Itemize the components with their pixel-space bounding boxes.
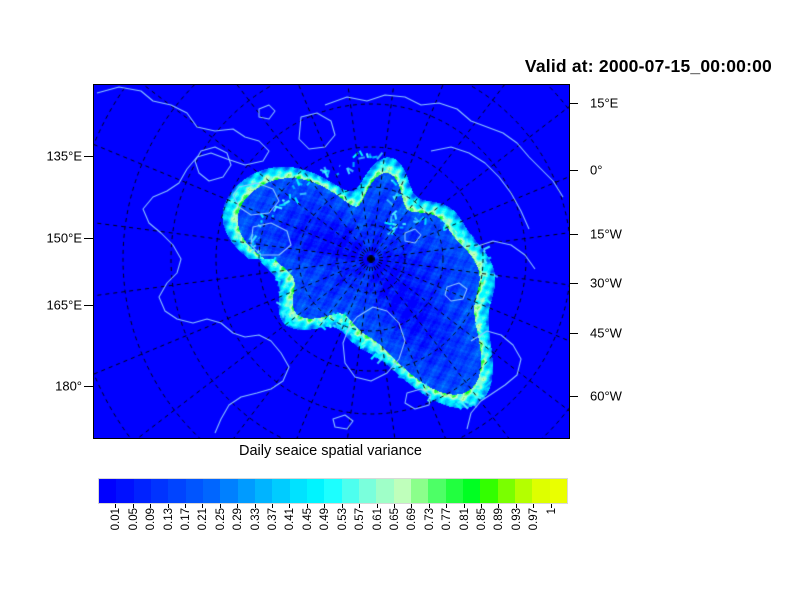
colorbar-segment: [255, 479, 272, 503]
left-axis-tick-label: 150°E: [20, 231, 82, 244]
colorbar-segment: [411, 479, 428, 503]
colorbar-tick-label: 0.29: [233, 508, 245, 530]
left-axis-tick-label: 135°E: [20, 150, 82, 163]
right-axis-tick-label: 15°W: [590, 228, 622, 241]
colorbar-segment: [463, 479, 480, 503]
colorbar-tick-label: 0.37: [268, 508, 280, 530]
left-axis-tick: [84, 238, 93, 239]
right-axis-tick-label: 45°W: [590, 326, 622, 339]
colorbar-tick-label: 0.53: [338, 508, 350, 530]
right-axis-tick-label: 60°W: [590, 390, 622, 403]
colorbar-segment: [134, 479, 151, 503]
colorbar-tick-label: 0.73: [425, 508, 437, 530]
colorbar-tick-label: 0.21: [198, 508, 210, 530]
colorbar-tick-label: 0.05: [129, 508, 141, 530]
colorbar-gradient: [98, 478, 568, 504]
colorbar-segment: [116, 479, 133, 503]
colorbar-tick-label: 0.49: [320, 508, 332, 530]
colorbar-segment: [99, 479, 116, 503]
colorbar-tick-label: 0.97: [529, 508, 541, 530]
right-axis-tick: [569, 103, 578, 104]
colorbar-segment: [532, 479, 549, 503]
colorbar-tick-label: 0.81: [460, 508, 472, 530]
colorbar-tick-label: 1: [547, 508, 559, 514]
page-title: Valid at: 2000-07-15_00:00:00: [0, 56, 772, 77]
colorbar-tick-label: 0.33: [251, 508, 263, 530]
colorbar-tick-label: 0.61: [373, 508, 385, 530]
right-axis-tick: [569, 283, 578, 284]
colorbar-segment: [238, 479, 255, 503]
colorbar-tick-label: 0.13: [164, 508, 176, 530]
figure-canvas: Valid at: 2000-07-15_00:00:00 135°E150°E…: [0, 0, 792, 612]
colorbar-tick-label: 0.01: [111, 508, 123, 530]
colorbar-tick-label: 0.77: [442, 508, 454, 530]
colorbar-segment: [203, 479, 220, 503]
colorbar-tick-label: 0.65: [390, 508, 402, 530]
colorbar-segment: [272, 479, 289, 503]
colorbar-tick-label: 0.85: [477, 508, 489, 530]
right-axis-tick: [569, 234, 578, 235]
colorbar-tick-label: 0.09: [146, 508, 158, 530]
right-axis-tick: [569, 333, 578, 334]
right-axis-tick: [569, 396, 578, 397]
colorbar[interactable]: [98, 478, 568, 504]
map-panel[interactable]: [93, 84, 570, 439]
colorbar-tick-label: 0.89: [494, 508, 506, 530]
colorbar-segment: [290, 479, 307, 503]
colorbar-segment: [168, 479, 185, 503]
right-axis-tick-label: 30°W: [590, 277, 622, 290]
colorbar-labels: 0.010.050.090.130.170.210.250.290.330.37…: [0, 508, 792, 568]
colorbar-segment: [480, 479, 497, 503]
colorbar-tick-label: 0.69: [407, 508, 419, 530]
colorbar-segment: [220, 479, 237, 503]
colorbar-tick-label: 0.93: [512, 508, 524, 530]
colorbar-tick-label: 0.17: [181, 508, 193, 530]
colorbar-segment: [515, 479, 532, 503]
left-axis-tick-label: 165°E: [20, 298, 82, 311]
right-axis-tick-label: 0°: [590, 164, 602, 177]
colorbar-segment: [307, 479, 324, 503]
colorbar-segment: [376, 479, 393, 503]
colorbar-tick-label: 0.41: [285, 508, 297, 530]
colorbar-tick-label: 0.25: [216, 508, 228, 530]
left-axis-tick: [84, 156, 93, 157]
left-axis-tick: [84, 386, 93, 387]
colorbar-segment: [498, 479, 515, 503]
colorbar-segment: [446, 479, 463, 503]
left-axis-tick-label: 180°: [20, 379, 82, 392]
colorbar-segment: [342, 479, 359, 503]
left-axis-tick: [84, 305, 93, 306]
colorbar-segment: [151, 479, 168, 503]
colorbar-segment: [550, 479, 567, 503]
right-axis-tick-label: 15°E: [590, 97, 618, 110]
sea-ice-variance-map: [94, 85, 569, 438]
right-axis-tick: [569, 170, 578, 171]
colorbar-segment: [359, 479, 376, 503]
colorbar-segment: [428, 479, 445, 503]
plot-caption: Daily seaice spatial variance: [93, 443, 568, 459]
colorbar-segment: [324, 479, 341, 503]
colorbar-segment: [394, 479, 411, 503]
colorbar-tick-label: 0.45: [303, 508, 315, 530]
colorbar-tick-label: 0.57: [355, 508, 367, 530]
colorbar-segment: [186, 479, 203, 503]
